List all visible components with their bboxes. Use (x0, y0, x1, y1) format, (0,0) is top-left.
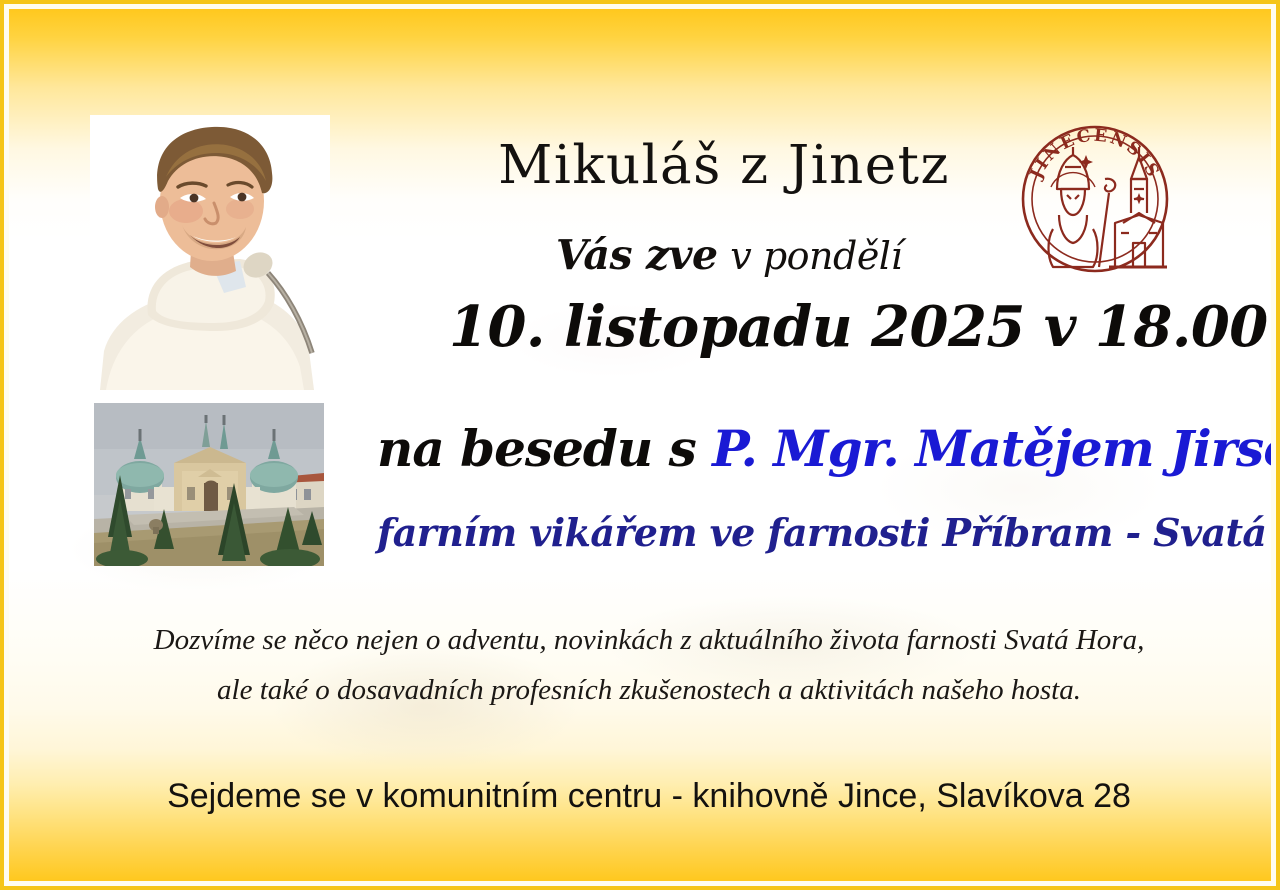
invitation-light: v pondělí (730, 234, 902, 278)
parish-seal-jinecensis: JINECENSIS (1013, 117, 1178, 282)
guest-name: P. Mgr. Matějem Jirsou, (712, 419, 1271, 478)
poster: JINECENSIS (0, 0, 1280, 890)
invitation-line: Vás zve v pondělí (449, 235, 1009, 276)
guest-role: farním vikářem ve farnosti Příbram - Sva… (377, 514, 1217, 552)
svg-text:JINECENSIS: JINECENSIS (1026, 126, 1164, 184)
poster-title: Mikuláš z Jinetz (464, 139, 984, 192)
description-paragraph: Dozvíme se něco nejen o adventu, novinká… (99, 615, 1199, 716)
description-line-2: ale také o dosavadních profesních zkušen… (99, 665, 1199, 715)
topic-prefix: na besedu s (377, 419, 712, 478)
event-datetime: 10. listopadu 2025 v 18.00 h (449, 299, 1219, 355)
seal-legend-text: JINECENSIS (1026, 126, 1164, 184)
priest-portrait-photo (90, 115, 330, 390)
svata-hora-basilica-photo (94, 403, 324, 566)
venue-line: Sejdeme se v komunitním centru - knihovn… (99, 779, 1199, 813)
poster-canvas: JINECENSIS (9, 9, 1271, 881)
event-topic-line: na besedu s P. Mgr. Matějem Jirsou, (377, 424, 1217, 474)
description-line-1: Dozvíme se něco nejen o adventu, novinká… (99, 615, 1199, 665)
invitation-strong: Vás zve (556, 231, 718, 279)
